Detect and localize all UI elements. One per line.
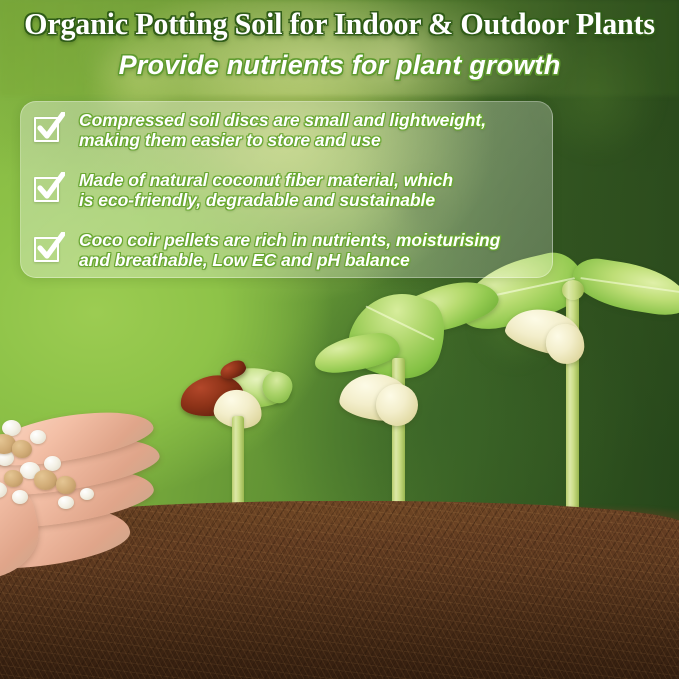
checkbox-checked-icon bbox=[34, 174, 64, 203]
feature-item-label: Compressed soil discs are small and ligh… bbox=[79, 111, 486, 150]
checkbox-checked-icon bbox=[34, 234, 64, 263]
leaf-right bbox=[569, 255, 679, 319]
pellet-tan bbox=[56, 476, 76, 494]
pellet-white bbox=[12, 490, 28, 504]
feature-item-label: Coco coir pellets are rich in nutrients,… bbox=[79, 231, 500, 270]
pellet-white bbox=[44, 456, 61, 471]
feature-item: Coco coir pellets are rich in nutrients,… bbox=[34, 231, 500, 270]
page-subtitle: Provide nutrients for plant growth bbox=[0, 48, 679, 82]
feature-highlights-panel: Compressed soil discs are small and ligh… bbox=[20, 101, 553, 278]
feature-item: Made of natural coconut fiber material, … bbox=[34, 171, 453, 210]
pellet-white bbox=[30, 430, 46, 444]
page-title: Organic Potting Soil for Indoor & Outdoo… bbox=[5, 6, 674, 42]
checkmark-icon bbox=[36, 232, 65, 262]
checkmark-icon bbox=[36, 172, 65, 202]
pellet-tan bbox=[12, 440, 32, 458]
feature-item: Compressed soil discs are small and ligh… bbox=[34, 111, 486, 150]
checkmark-icon bbox=[36, 112, 65, 142]
stem-joint bbox=[562, 280, 584, 300]
pellet-tan bbox=[4, 470, 23, 487]
pellet-white bbox=[58, 496, 74, 509]
hand-with-pellets bbox=[0, 410, 196, 610]
pellet-white bbox=[80, 488, 94, 500]
pellet-tan bbox=[34, 470, 57, 490]
product-marketing-image: Organic Potting Soil for Indoor & Outdoo… bbox=[0, 0, 679, 679]
cotyledon-seed-lobe bbox=[376, 384, 418, 426]
checkbox-checked-icon bbox=[34, 114, 64, 143]
feature-item-label: Made of natural coconut fiber material, … bbox=[79, 171, 453, 210]
